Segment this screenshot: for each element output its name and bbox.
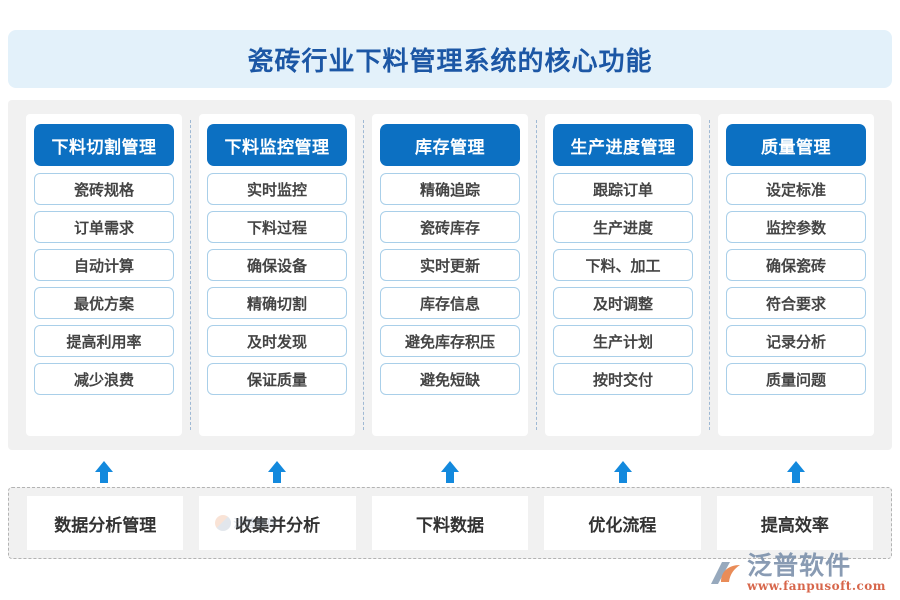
arrow-stem <box>273 471 281 483</box>
bottom-cell-label: 数据分析管理 <box>54 511 156 536</box>
infographic-page: 瓷砖行业下料管理系统的核心功能 下料切割管理 瓷砖规格 订单需求 自动计算 最优… <box>0 0 900 600</box>
column-item[interactable]: 下料过程 <box>207 211 347 243</box>
up-arrow-icon <box>787 461 805 483</box>
column-header-1[interactable]: 下料切割管理 <box>34 124 174 166</box>
column-header-5[interactable]: 质量管理 <box>726 124 866 166</box>
up-arrow-icon <box>614 461 632 483</box>
feature-column-5: 质量管理 设定标准 监控参数 确保瓷砖 符合要求 记录分析 质量问题 <box>718 114 874 436</box>
column-item[interactable]: 按时交付 <box>553 363 693 395</box>
bottom-process-panel: 数据分析管理 泛普软件 收集并分析 下料数据 优化流程 提高效率 <box>8 487 892 559</box>
column-wrap-3: 库存管理 精确追踪 瓷砖库存 实时更新 库存信息 避免库存积压 避免短缺 <box>364 114 536 436</box>
column-item[interactable]: 确保设备 <box>207 249 347 281</box>
column-item[interactable]: 监控参数 <box>726 211 866 243</box>
column-item[interactable]: 生产进度 <box>553 211 693 243</box>
feature-columns-panel: 下料切割管理 瓷砖规格 订单需求 自动计算 最优方案 提高利用率 减少浪费 下料… <box>8 100 892 450</box>
column-wrap-1: 下料切割管理 瓷砖规格 订单需求 自动计算 最优方案 提高利用率 减少浪费 <box>18 114 190 436</box>
column-item[interactable]: 确保瓷砖 <box>726 249 866 281</box>
bottom-cell-label: 优化流程 <box>588 511 656 536</box>
title-banner: 瓷砖行业下料管理系统的核心功能 <box>8 30 892 88</box>
bottom-cell-2[interactable]: 泛普软件 收集并分析 <box>199 496 355 550</box>
column-item[interactable]: 生产计划 <box>553 325 693 357</box>
up-arrow-icon <box>441 461 459 483</box>
bottom-cell-label: 提高效率 <box>761 511 829 536</box>
arrow-row <box>8 455 892 483</box>
column-item[interactable]: 自动计算 <box>34 249 174 281</box>
column-wrap-2: 下料监控管理 实时监控 下料过程 确保设备 精确切割 及时发现 保证质量 <box>191 114 363 436</box>
bottom-cell-3[interactable]: 下料数据 <box>372 496 528 550</box>
column-item[interactable]: 瓷砖规格 <box>34 173 174 205</box>
bottom-cell-label: 收集并分析 <box>235 511 320 536</box>
arrow-stem <box>792 471 800 483</box>
brand-logo-text: 泛普软件 www.fanpusoft.com <box>747 553 886 592</box>
column-item[interactable]: 跟踪订单 <box>553 173 693 205</box>
column-item[interactable]: 设定标准 <box>726 173 866 205</box>
watermark-arc-icon <box>215 515 231 531</box>
column-item[interactable]: 实时更新 <box>380 249 520 281</box>
column-header-3[interactable]: 库存管理 <box>380 124 520 166</box>
column-item[interactable]: 订单需求 <box>34 211 174 243</box>
page-title: 瓷砖行业下料管理系统的核心功能 <box>247 41 652 78</box>
brand-url: www.fanpusoft.com <box>747 580 886 592</box>
arrow-cell-4 <box>536 461 709 483</box>
up-arrow-icon <box>95 461 113 483</box>
bottom-cell-1[interactable]: 数据分析管理 <box>27 496 183 550</box>
column-wrap-5: 质量管理 设定标准 监控参数 确保瓷砖 符合要求 记录分析 质量问题 <box>710 114 882 436</box>
column-item[interactable]: 减少浪费 <box>34 363 174 395</box>
column-item[interactable]: 符合要求 <box>726 287 866 319</box>
column-item[interactable]: 提高利用率 <box>34 325 174 357</box>
feature-column-4: 生产进度管理 跟踪订单 生产进度 下料、加工 及时调整 生产计划 按时交付 <box>545 114 701 436</box>
column-header-4[interactable]: 生产进度管理 <box>553 124 693 166</box>
arrow-cell-2 <box>191 461 364 483</box>
brand-logo: 泛普软件 www.fanpusoft.com <box>709 553 886 592</box>
arrow-cell-1 <box>18 461 191 483</box>
column-item[interactable]: 避免短缺 <box>380 363 520 395</box>
bottom-cell-label: 下料数据 <box>416 511 484 536</box>
column-item[interactable]: 及时发现 <box>207 325 347 357</box>
column-item[interactable]: 实时监控 <box>207 173 347 205</box>
column-item[interactable]: 避免库存积压 <box>380 325 520 357</box>
feature-column-1: 下料切割管理 瓷砖规格 订单需求 自动计算 最优方案 提高利用率 减少浪费 <box>26 114 182 436</box>
column-item[interactable]: 精确切割 <box>207 287 347 319</box>
bottom-cell-4[interactable]: 优化流程 <box>544 496 700 550</box>
brand-name: 泛普软件 <box>747 553 851 578</box>
column-item[interactable]: 保证质量 <box>207 363 347 395</box>
feature-column-2: 下料监控管理 实时监控 下料过程 确保设备 精确切割 及时发现 保证质量 <box>199 114 355 436</box>
column-item[interactable]: 质量问题 <box>726 363 866 395</box>
column-header-2[interactable]: 下料监控管理 <box>207 124 347 166</box>
column-item[interactable]: 记录分析 <box>726 325 866 357</box>
column-item[interactable]: 及时调整 <box>553 287 693 319</box>
arrow-stem <box>446 471 454 483</box>
column-item[interactable]: 库存信息 <box>380 287 520 319</box>
column-item[interactable]: 下料、加工 <box>553 249 693 281</box>
column-wrap-4: 生产进度管理 跟踪订单 生产进度 下料、加工 及时调整 生产计划 按时交付 <box>537 114 709 436</box>
arrow-stem <box>619 471 627 483</box>
arrow-stem <box>100 471 108 483</box>
bottom-cell-5[interactable]: 提高效率 <box>717 496 873 550</box>
arrow-cell-5 <box>709 461 882 483</box>
arrow-cell-3 <box>364 461 537 483</box>
column-item[interactable]: 最优方案 <box>34 287 174 319</box>
column-item[interactable]: 精确追踪 <box>380 173 520 205</box>
column-item[interactable]: 瓷砖库存 <box>380 211 520 243</box>
up-arrow-icon <box>268 461 286 483</box>
brand-logo-icon <box>709 558 743 588</box>
feature-column-3: 库存管理 精确追踪 瓷砖库存 实时更新 库存信息 避免库存积压 避免短缺 <box>372 114 528 436</box>
